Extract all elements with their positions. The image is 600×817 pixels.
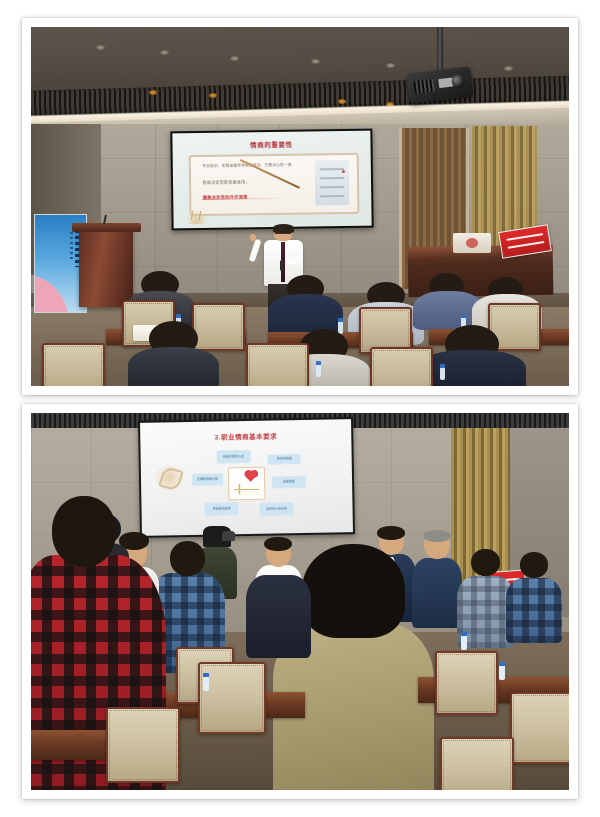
- banner-text-block: [75, 230, 79, 267]
- glasses-icon: [275, 233, 290, 237]
- slide-center-characters: [233, 483, 259, 494]
- audience-person: [418, 350, 526, 386]
- audience-chair: [42, 343, 105, 386]
- participant-head-back: [170, 541, 205, 575]
- slide-side-text-line: [320, 186, 344, 188]
- banner-text-block: [70, 232, 73, 261]
- water-bottle-icon: [338, 318, 343, 334]
- slide-side-text-line: [320, 195, 344, 197]
- slide-chip: 良好的情绪: [267, 454, 301, 465]
- slide-chip: 自我激励: [272, 476, 306, 488]
- slide-watermark-logo: [185, 210, 207, 224]
- participant-head-back: [520, 552, 548, 577]
- audience-chair: [192, 303, 244, 350]
- participant-blue-plaid-right: [504, 552, 563, 658]
- projector-vent: [413, 79, 434, 94]
- screenshot-page: 情商的重要性 专业知识、实践技能所带来的成功，只是冰山的一角 智商决定您是否被录…: [0, 0, 600, 817]
- presenter-raised-arm: [249, 238, 262, 262]
- plaid-shirt: [506, 578, 563, 643]
- camera-lens-icon: [222, 531, 235, 541]
- slide-chip: 学会换位思考: [204, 502, 238, 515]
- slide-title: 3.职业情商基本要求: [214, 430, 277, 441]
- participant-dark-top: [246, 556, 311, 662]
- chair: [440, 737, 514, 790]
- slide-content-box: 专业知识、实践技能所带来的成功，只是冰山的一角 智商决定您是否被录用， 情商决定…: [188, 152, 359, 215]
- projection-screen: 3.职业情商基本要求 积极乐观的心态 良好的情绪 正确的自我认知 自我激励 学会…: [138, 417, 355, 538]
- audience-chair: [370, 347, 433, 387]
- lectern: [79, 228, 133, 307]
- projection-screen: 情商的重要性 专业知识、实践技能所带来的成功，只是冰山的一角 智商决定您是否被录…: [170, 128, 373, 230]
- slide-title: 情商的重要性: [250, 138, 293, 149]
- downlight-icon: [386, 63, 395, 68]
- audience-chair: [246, 343, 309, 386]
- slide-side-text-line: [320, 168, 344, 170]
- slide-side-text-line: [320, 177, 344, 179]
- photo-card-top[interactable]: 情商的重要性 专业知识、实践技能所带来的成功，只是冰山的一角 智商决定您是否被录…: [22, 18, 578, 395]
- projector-mount-pole: [437, 27, 443, 74]
- participant-head-back: [471, 549, 499, 576]
- participant-hair: [377, 526, 405, 540]
- chair: [435, 651, 498, 715]
- water-bottle-icon: [203, 673, 209, 691]
- participant-head-back: [302, 544, 405, 639]
- slide-body-line: 智商决定您是否被录用，: [202, 178, 249, 185]
- water-bottle-icon: [461, 632, 467, 650]
- slide-decorative-graphic: [153, 462, 185, 492]
- slide-surface: 3.职业情商基本要求 积极乐观的心态 良好的情绪 正确的自我认知 自我激励 学会…: [140, 419, 353, 536]
- table-display-object: [453, 233, 491, 253]
- slide-chip: 良好的人际关系: [259, 502, 293, 515]
- photo-card-bottom[interactable]: 3.职业情商基本要求 积极乐观的心态 良好的情绪 正确的自我认知 自我激励 学会…: [22, 404, 578, 799]
- heart-icon: [246, 470, 257, 481]
- water-bottle-icon: [440, 364, 445, 380]
- slide-chip: 正确的自我认知: [191, 473, 223, 486]
- slide-underline: [203, 197, 286, 200]
- slide-chip: 积极乐观的心态: [216, 450, 250, 463]
- chair: [510, 692, 569, 764]
- participant-head-back: [52, 496, 116, 567]
- ceiling-spotlight-icon: [338, 99, 346, 104]
- downlight-icon: [230, 56, 239, 61]
- dark-top: [246, 575, 311, 657]
- handheld-microphone-icon: [280, 260, 284, 271]
- red-sign-text-line: [507, 241, 544, 249]
- water-bottle-icon: [499, 662, 505, 680]
- projector-label: [438, 78, 453, 89]
- slide-side-panel: [315, 160, 349, 205]
- downlight-icon: [96, 45, 105, 50]
- slide-center-graphic: [227, 467, 265, 500]
- slide-red-dot-icon: [342, 170, 345, 173]
- photo-bottom: 3.职业情商基本要求 积极乐观的心态 良好的情绪 正确的自我认知 自我激励 学会…: [31, 413, 569, 790]
- slide-surface: 情商的重要性 专业知识、实践技能所带来的成功，只是冰山的一角 智商决定您是否被录…: [172, 130, 371, 227]
- fan-graphic-icon: [34, 275, 69, 313]
- ceiling-spotlight-icon: [209, 93, 217, 98]
- presenter-hair: [273, 224, 294, 232]
- photo-top: 情商的重要性 专业知识、实践技能所带来的成功，只是冰山的一角 智商决定您是否被录…: [31, 27, 569, 386]
- water-bottle-icon: [316, 361, 321, 377]
- red-sign-text-line: [506, 233, 543, 241]
- chair: [106, 707, 180, 783]
- audience-person: [128, 347, 219, 387]
- lectern-top: [72, 223, 141, 232]
